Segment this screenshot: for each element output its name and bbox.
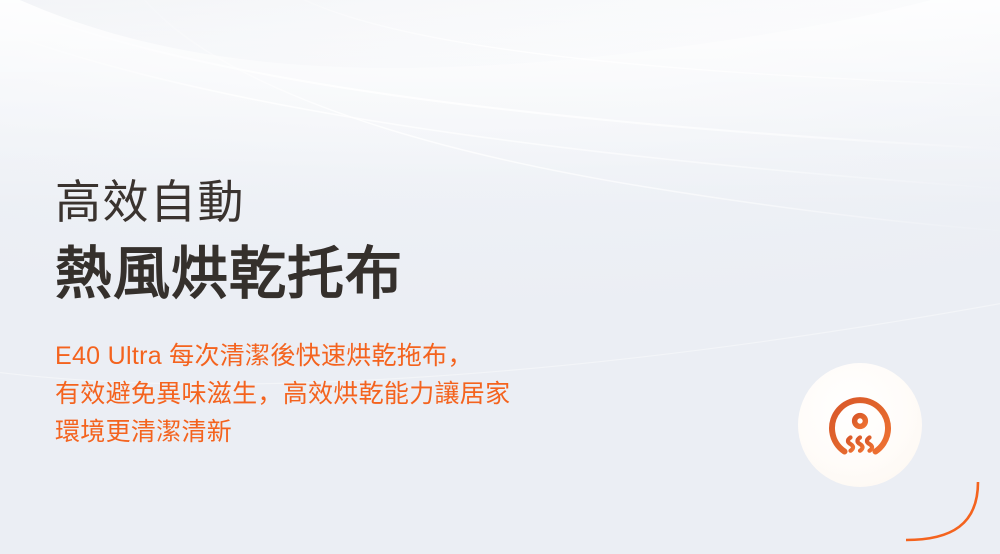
headline-title: 熱風烘乾托布 (55, 243, 715, 307)
body-copy: E40 Ultra 每次清潔後快速烘乾拖布， 有效避免異味滋生，高效烘乾能力讓居… (55, 337, 715, 451)
copy-block: 高效自動 熱風烘乾托布 E40 Ultra 每次清潔後快速烘乾拖布， 有效避免異… (55, 175, 715, 451)
icon-badge (798, 363, 922, 487)
body-copy-line-2: 有效避免異味滋生，高效烘乾能力讓居家 (55, 375, 715, 413)
headline-subtitle: 高效自動 (55, 175, 715, 229)
promo-banner: 高效自動 熱風烘乾托布 E40 Ultra 每次清潔後快速烘乾拖布， 有效避免異… (0, 0, 1000, 554)
body-copy-line-1: E40 Ultra 每次清潔後快速烘乾拖布， (55, 337, 715, 375)
hot-air-drying-icon (816, 381, 904, 469)
body-copy-line-3: 環境更清潔清新 (55, 413, 715, 451)
